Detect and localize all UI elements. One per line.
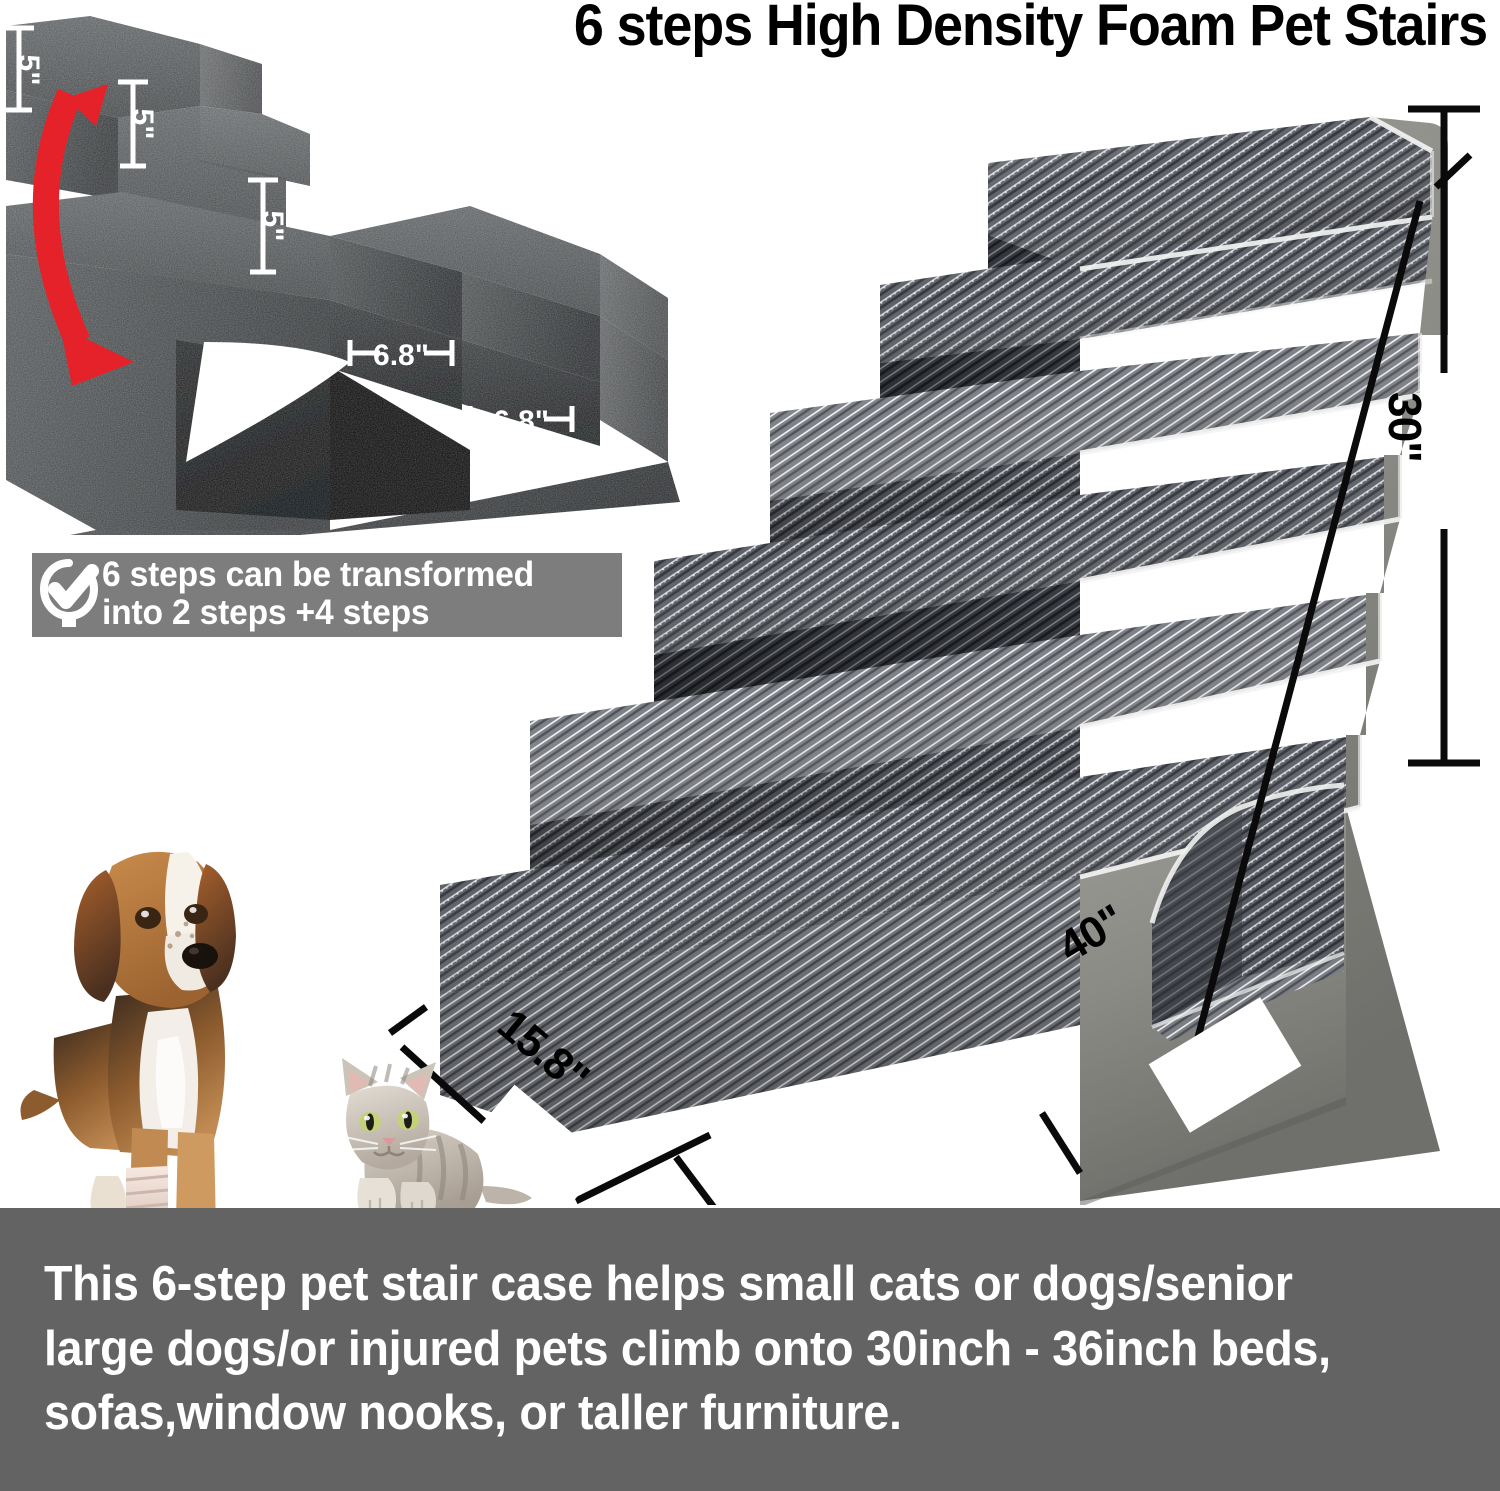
footer-line-3: sofas,window nooks, or taller furniture.: [44, 1381, 1393, 1446]
footer-line-2: large dogs/or injured pets climb onto 30…: [44, 1317, 1393, 1382]
svg-text:5": 5": [256, 211, 289, 242]
infographic-canvas: 5" 5" 5" 6.8" 6.8" 6 steps High Density …: [0, 0, 1500, 1491]
dimension-label-height: 30": [1378, 392, 1432, 462]
svg-text:5": 5": [12, 55, 45, 86]
stairs-geometry: [440, 117, 1498, 1205]
footer-description: This 6-step pet stair case helps small c…: [44, 1252, 1393, 1446]
circle-check-icon: [38, 557, 100, 631]
beagle-dog-image: [20, 828, 350, 1258]
footer-line-1: This 6-step pet stair case helps small c…: [44, 1252, 1393, 1317]
page-title: 6 steps High Density Foam Pet Stairs: [105, 0, 1500, 57]
svg-text:5": 5": [126, 109, 159, 140]
